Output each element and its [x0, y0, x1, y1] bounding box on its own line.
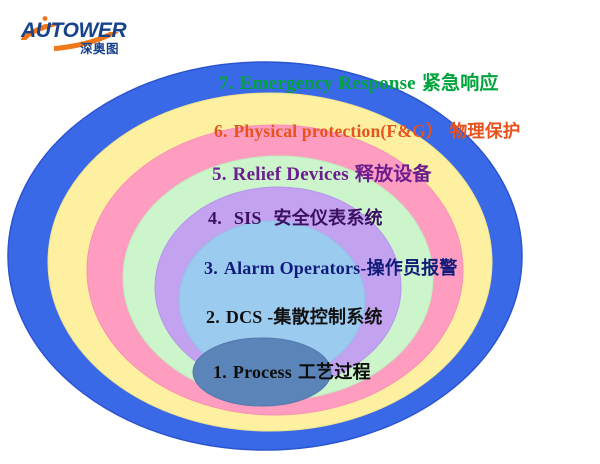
layer-3-chinese: 操作员报警 [367, 258, 458, 279]
layer-1-english: Process [233, 362, 292, 382]
layers-of-protection-diagram [0, 0, 600, 464]
layer-2-number: 2. [206, 307, 220, 327]
logo-wordmark: AUTOWER [20, 19, 128, 42]
layer-5-chinese: 释放设备 [355, 163, 432, 185]
autower-logo: AUTOWER 深奥图 [14, 10, 142, 58]
layer-label-emergency-response: 7.Emergency Response紧急响应 [219, 74, 499, 94]
layer-6-english: Physical protection(F&G） [234, 121, 444, 141]
layer-4-chinese: 安全仪表系统 [274, 208, 383, 229]
layer-6-number: 6. [214, 121, 228, 141]
layer-2-chinese: 集散控制系统 [273, 307, 382, 328]
layer-label-dcs: 2.DCS -集散控制系统 [206, 308, 383, 328]
slide-canvas: 7.Emergency Response紧急响应 6.Physical prot… [0, 0, 600, 464]
layer-7-english: Emergency Response [240, 73, 416, 94]
layer-label-relief-devices: 5.Relief Devices释放设备 [212, 165, 432, 185]
layer-label-alarm-operators: 3.Alarm Operators-操作员报警 [204, 259, 458, 279]
layer-4-number: 4. [208, 208, 222, 228]
layer-1-number: 1. [213, 362, 227, 382]
layer-label-sis: 4.SIS安全仪表系统 [208, 209, 383, 229]
layer-5-english: Relief Devices [233, 164, 349, 185]
layer-4-english: SIS [234, 208, 262, 228]
layer-5-number: 5. [212, 164, 227, 185]
layer-7-number: 7. [219, 73, 234, 94]
logo-chinese: 深奥图 [80, 41, 119, 56]
layer-label-process: 1.Process工艺过程 [213, 363, 371, 383]
layer-3-english: Alarm Operators- [224, 258, 367, 278]
layer-3-number: 3. [204, 258, 218, 278]
layer-7-chinese: 紧急响应 [422, 72, 499, 94]
layer-1-chinese: 工艺过程 [298, 362, 371, 383]
layer-2-english: DCS - [226, 307, 274, 327]
layer-label-physical-protection: 6.Physical protection(F&G）物理保护 [214, 122, 520, 141]
layer-6-chinese: 物理保护 [450, 122, 521, 142]
